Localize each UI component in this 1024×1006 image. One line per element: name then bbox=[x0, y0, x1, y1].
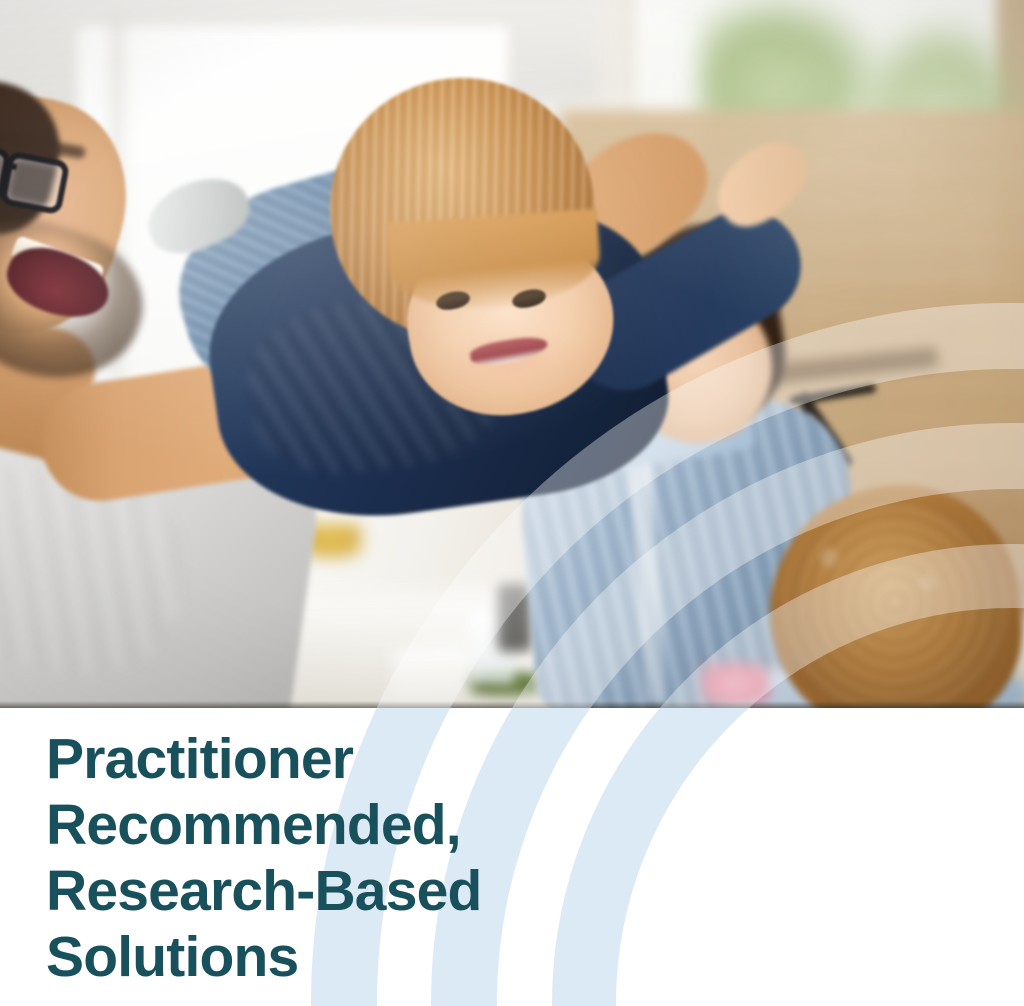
hero-photo bbox=[0, 0, 1024, 708]
curly-child-hair-texture bbox=[782, 498, 1008, 708]
eyeglass-lens-right bbox=[0, 150, 70, 215]
poster-canvas: Practitioner Recommended, Research-Based… bbox=[0, 0, 1024, 1006]
dark-jar bbox=[498, 584, 532, 652]
page-title: Practitioner Recommended, Research-Based… bbox=[46, 726, 666, 990]
pink-object bbox=[700, 662, 770, 706]
